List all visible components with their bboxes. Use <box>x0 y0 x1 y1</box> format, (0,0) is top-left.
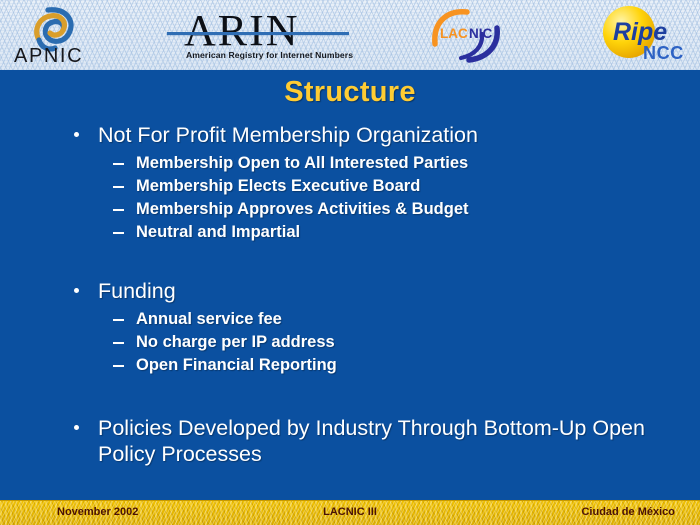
arin-wordmark: ARIN <box>184 6 300 55</box>
bullet-level2: Neutral and Impartial <box>0 221 700 244</box>
bullet-level2-text: Annual service fee <box>136 310 282 328</box>
bullet-dash-icon <box>113 163 124 165</box>
bullet-level2-text: Open Financial Reporting <box>136 356 337 374</box>
bullet-level2-text: Membership Approves Activities & Budget <box>136 200 469 218</box>
ripe-wordmark: Ripe <box>613 18 667 46</box>
lacnic-wordmark-nic: NIC <box>469 26 493 41</box>
arin-rule <box>167 32 349 35</box>
arin-tagline: American Registry for Internet Numbers <box>186 50 353 60</box>
bullet-level1: Policies Developed by Industry Through B… <box>0 415 700 467</box>
slide-title: Structure <box>0 76 700 109</box>
presentation-slide: APNIC ARIN American Registry for Interne… <box>0 0 700 525</box>
bullet-group: Funding Annual service fee No charge per… <box>0 278 700 377</box>
bullet-dot-icon <box>74 288 79 293</box>
bullet-dash-icon <box>113 186 124 188</box>
bullet-dash-icon <box>113 209 124 211</box>
arin-logo: ARIN American Registry for Internet Numb… <box>160 6 360 62</box>
bullet-dash-icon <box>113 232 124 234</box>
header-logo-band: APNIC ARIN American Registry for Interne… <box>0 0 700 71</box>
slide-footer: November 2002 LACNIC III Ciudad de Méxic… <box>0 500 700 525</box>
bullet-level2: Membership Approves Activities & Budget <box>0 198 700 221</box>
bullet-group: Not For Profit Membership Organization M… <box>0 122 700 244</box>
bullet-level2: Annual service fee <box>0 308 700 331</box>
bullet-level2: No charge per IP address <box>0 331 700 354</box>
bullet-level2: Open Financial Reporting <box>0 354 700 377</box>
bullet-level1-text: Policies Developed by Industry Through B… <box>98 416 645 466</box>
bullet-dash-icon <box>113 365 124 367</box>
lacnic-wordmark-lac: LAC <box>440 26 468 41</box>
bullet-level1-text: Funding <box>98 279 176 303</box>
apnic-wordmark: APNIC <box>14 45 83 66</box>
footer-place: Ciudad de México <box>581 506 675 518</box>
bullet-level2: Membership Elects Executive Board <box>0 175 700 198</box>
apnic-logo: APNIC <box>8 4 118 66</box>
bullet-dot-icon <box>74 425 79 430</box>
bullet-level2-text: No charge per IP address <box>136 333 335 351</box>
bullet-level1: Not For Profit Membership Organization <box>0 122 700 148</box>
bullet-level2-text: Neutral and Impartial <box>136 223 300 241</box>
bullet-group: Policies Developed by Industry Through B… <box>0 415 700 467</box>
slide-body: Not For Profit Membership Organization M… <box>0 122 700 471</box>
ripe-ncc-wordmark: NCC <box>643 43 684 63</box>
bullet-level1: Funding <box>0 278 700 304</box>
bullet-level2: Membership Open to All Interested Partie… <box>0 152 700 175</box>
bullet-level2-text: Membership Elects Executive Board <box>136 177 420 195</box>
bullet-dash-icon <box>113 342 124 344</box>
lacnic-logo: LAC NIC <box>425 4 517 64</box>
bullet-dot-icon <box>74 132 79 137</box>
ripe-ncc-logo: Ripe NCC <box>593 2 697 66</box>
bullet-level1-text: Not For Profit Membership Organization <box>98 123 478 147</box>
bullet-level2-text: Membership Open to All Interested Partie… <box>136 154 468 172</box>
bullet-dash-icon <box>113 319 124 321</box>
